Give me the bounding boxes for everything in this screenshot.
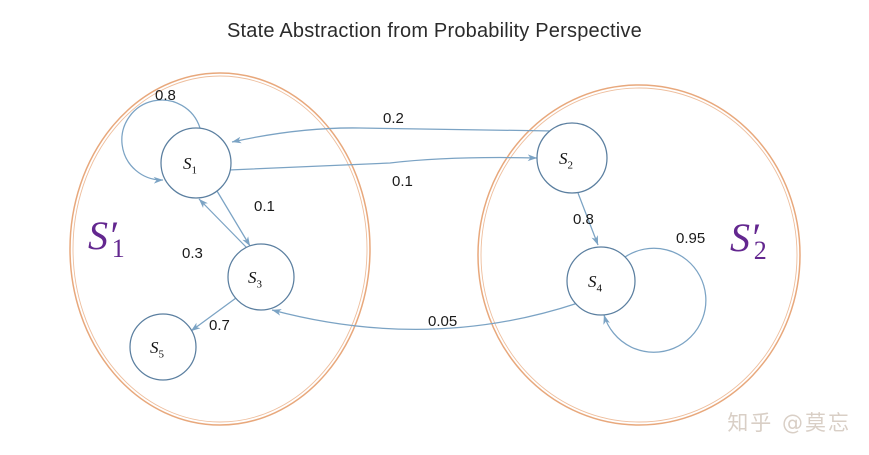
edge-label-S4-self: 0.95 — [676, 230, 705, 247]
edge-S1-S2 — [229, 158, 537, 170]
edge-label-S2-S4: 0.8 — [573, 211, 594, 228]
edge-S2-S1 — [232, 128, 553, 142]
edge-label-S1-S3: 0.1 — [254, 198, 275, 215]
edge-label-S3-S5: 0.7 — [209, 317, 230, 334]
node-label-S3: S3 — [248, 268, 262, 290]
edge-S4-S3 — [272, 303, 578, 329]
node-label-S1: S1 — [183, 154, 197, 176]
node-label-S4: S4 — [588, 272, 602, 294]
edge-label-S2-S1: 0.2 — [383, 110, 404, 127]
node-label-S2: S2 — [559, 149, 573, 171]
edge-label-S1-self: 0.8 — [155, 87, 176, 104]
edge-label-S1-S2: 0.1 — [392, 173, 413, 190]
cluster-label-S1p: S′1 — [88, 216, 125, 262]
edge-label-S3-S1: 0.3 — [182, 245, 203, 262]
edge-S1-S3 — [217, 191, 250, 246]
node-label-S5: S5 — [150, 338, 164, 360]
edge-S3-S1 — [199, 199, 247, 248]
cluster-label-S2p: S′2 — [730, 218, 767, 264]
edge-label-S4-S3: 0.05 — [428, 313, 457, 330]
watermark: 知乎 @莫忘 — [727, 407, 851, 437]
